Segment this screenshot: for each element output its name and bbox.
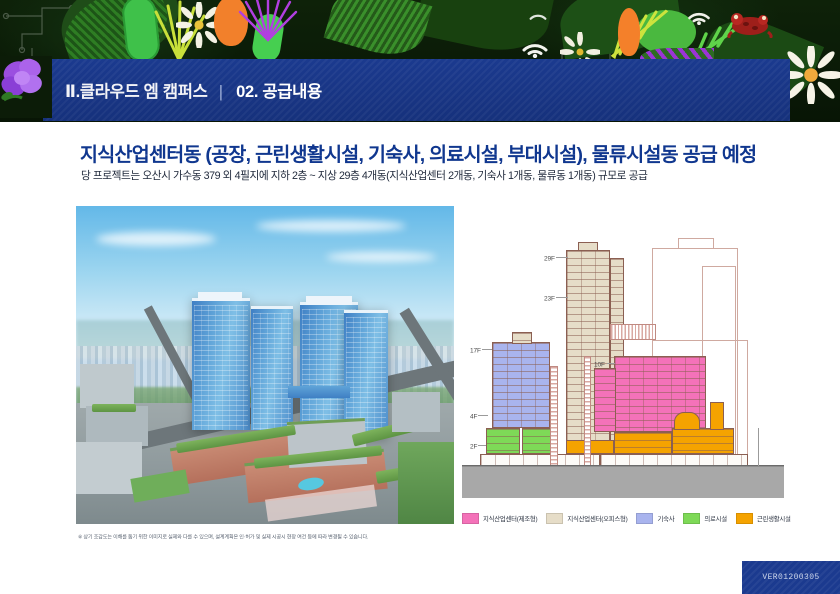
legend-item: 지식산업센터(제조형): [462, 513, 537, 524]
legend-swatch-neighborhood: [736, 513, 753, 524]
floor-label-10f: 10F: [594, 361, 605, 369]
ground-fill: [462, 466, 784, 498]
legend-swatch-manufacturing: [462, 513, 479, 524]
midrise-block: [80, 364, 134, 408]
neighborhood-tower-orange: [710, 402, 724, 430]
dorm-roof-core: [512, 332, 532, 344]
medical-block-green: [486, 428, 520, 454]
floor-label-29f: 29F: [544, 255, 555, 263]
green-roof: [92, 404, 136, 412]
leader-line: [607, 363, 615, 364]
cloud-shape: [256, 220, 406, 232]
cloud-shape: [326, 252, 436, 262]
legend-label: 지식산업센터(제조형): [483, 514, 537, 523]
vertical-core: [550, 366, 558, 470]
orange-tulip-icon: [618, 8, 640, 56]
legend-item: 근린생활시설: [736, 513, 791, 524]
midrise-block: [86, 406, 148, 446]
blue-tower: [251, 306, 293, 430]
wifi-icon: [686, 4, 712, 25]
legend-swatch-office: [546, 513, 563, 524]
purple-flower-badge: [0, 56, 52, 118]
legend-item: 기숙사: [636, 513, 674, 524]
header-section-label: Ⅱ.클라우드 엠 캠퍼스: [65, 83, 207, 101]
legend-swatch-medical: [683, 513, 700, 524]
photo-disclaimer: ※ 상기 조감도는 이해를 돕기 위한 이미지로 실제와 다를 수 있으며, 설…: [78, 534, 527, 541]
section-header-bar: Ⅱ.클라우드 엠 캠퍼스 | 02. 공급내용: [43, 59, 790, 121]
cloud-shape: [96, 232, 216, 246]
page-subtitle: 당 프로젝트는 오산시 가수동 379 외 4필지에 지하 2층 ~ 지상 29…: [81, 168, 801, 183]
rooftop-cap: [306, 296, 352, 305]
legend-label: 근린생활시설: [757, 514, 791, 523]
aerial-rendering-image: [76, 206, 454, 524]
manufacturing-block-pink-left: [594, 368, 616, 432]
green-strip: [398, 442, 454, 524]
neighborhood-block-orange-roof: [674, 412, 700, 430]
version-code: VER01200305: [762, 573, 819, 582]
rooftop-cap: [198, 292, 242, 301]
legend-swatch-dormitory: [636, 513, 653, 524]
header-breadcrumb: Ⅱ.클라우드 엠 캠퍼스 | 02. 공급내용: [65, 78, 322, 102]
sky-bridge: [288, 386, 350, 398]
legend-item: 지식산업센터(오피스형): [546, 513, 627, 524]
logistics-roof-outline: [678, 238, 714, 249]
legend-item: 의료시설: [683, 513, 727, 524]
midrise-block: [392, 392, 440, 432]
wifi-icon: [528, 8, 548, 24]
legend-label: 지식산업센터(오피스형): [567, 514, 627, 523]
daisy-flower-icon: [782, 46, 840, 104]
vertical-core: [584, 356, 591, 470]
leader-line: [478, 415, 488, 416]
leader-line: [556, 297, 568, 298]
connector-bridge: [610, 324, 656, 340]
dorm-tower-blue: [492, 342, 550, 428]
tower-roof-cap: [578, 242, 598, 251]
floor-label-2f: 2F: [470, 443, 477, 451]
floor-label-17f: 17F: [470, 347, 481, 355]
flagpole: [758, 428, 759, 466]
leader-line: [556, 257, 568, 258]
header-separator: |: [219, 83, 223, 102]
footer-version-strip: VER01200305: [742, 561, 840, 594]
red-frog-icon: [724, 6, 776, 38]
building-section-diagram: 29F 23F 17F 10F 4F 2F: [462, 206, 784, 498]
purple-fan-leaf-icon: [236, 0, 300, 44]
leader-line: [482, 349, 492, 350]
diagram-legend: 지식산업센터(제조형) 지식산업센터(오피스형) 기숙사 의료시설 근린생활시설: [462, 508, 792, 528]
legend-label: 기숙사: [657, 514, 674, 523]
floor-label-4f: 4F: [470, 413, 477, 421]
neighborhood-block-orange: [672, 428, 734, 454]
floor-label-23f: 23F: [544, 295, 555, 303]
neighborhood-block-orange: [614, 432, 672, 454]
header-page-label: 02. 공급내용: [236, 83, 322, 101]
blue-tower: [192, 298, 250, 430]
leader-line: [478, 445, 486, 446]
page-title: 지식산업센터동 (공장, 근린생활시설, 기숙사, 의료시설, 부대시설), 물…: [80, 138, 780, 167]
wifi-icon: [520, 34, 550, 58]
legend-label: 의료시설: [704, 514, 727, 523]
